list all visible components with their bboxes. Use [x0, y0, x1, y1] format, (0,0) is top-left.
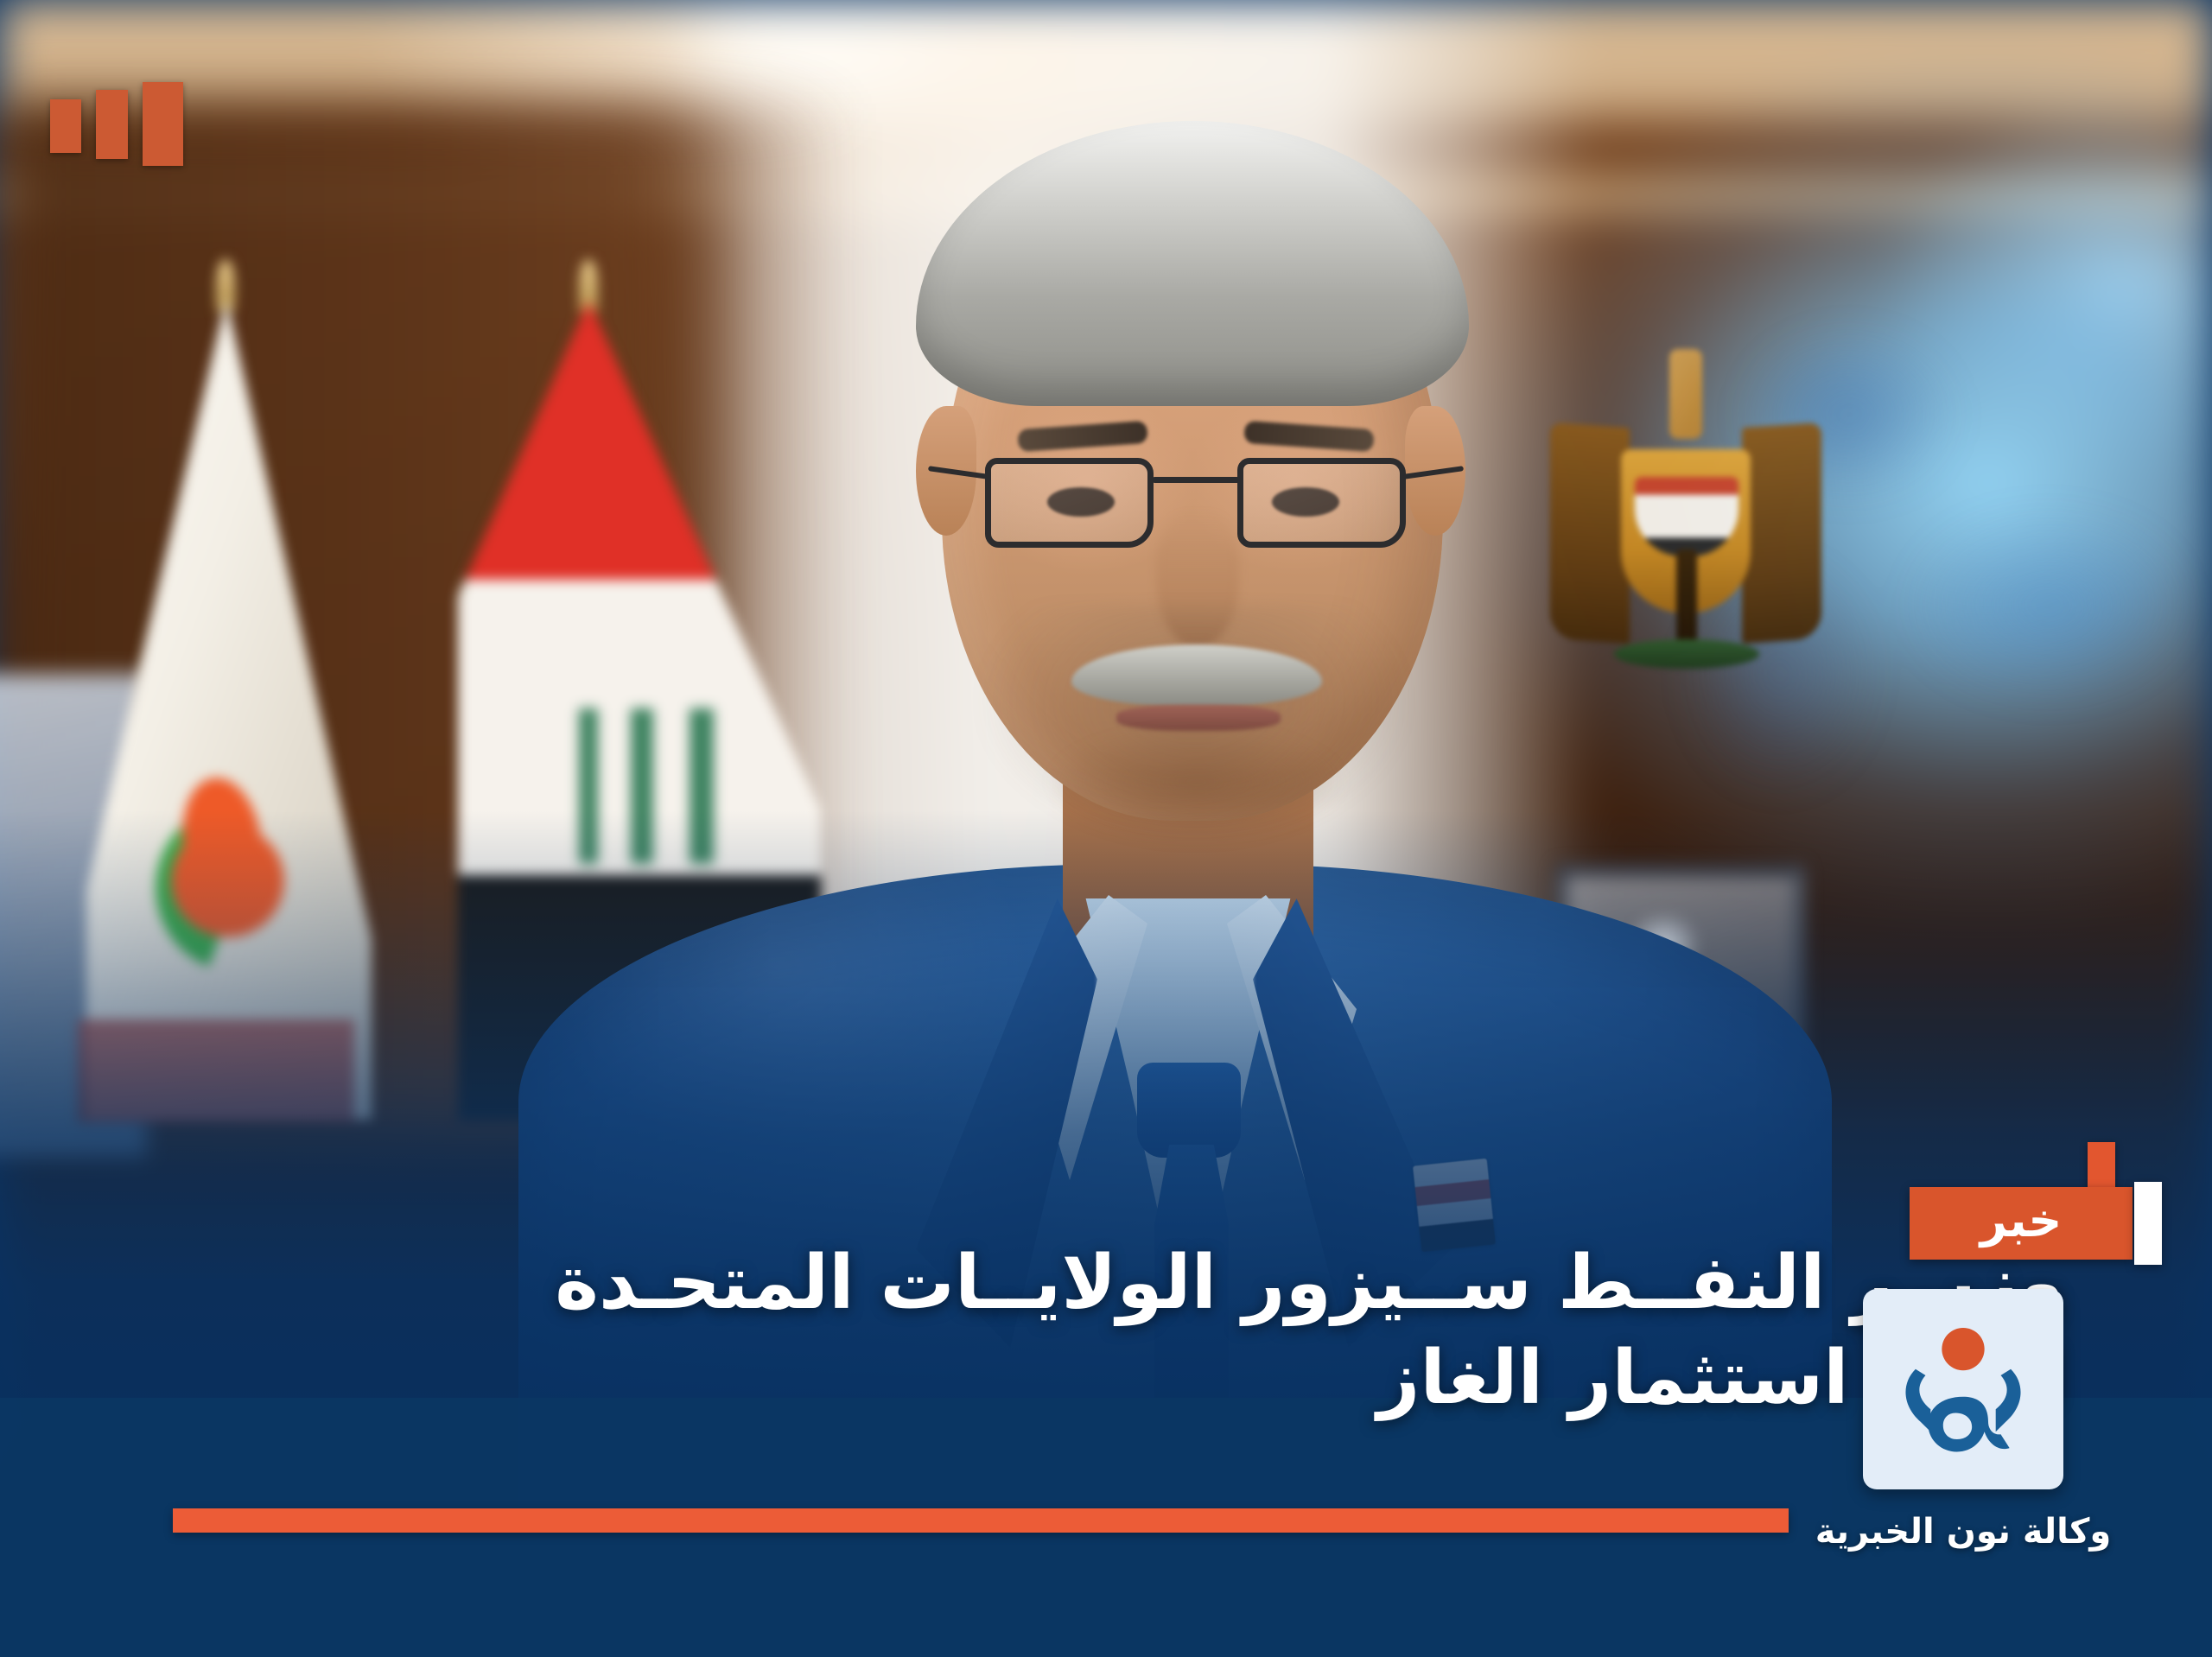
- corner-bar-3: [50, 99, 81, 153]
- headline-line-2: لبحث استثمار الغاز: [164, 1330, 2065, 1425]
- agency-logo-card: [1863, 1289, 2063, 1489]
- news-badge-label: خبر: [1980, 1197, 2063, 1249]
- news-badge: خبر: [1910, 1187, 2133, 1260]
- glasses-lens-right: [1237, 458, 1406, 548]
- corner-bars-mark: [50, 82, 183, 166]
- glasses-bridge: [1152, 477, 1240, 483]
- news-card: وزيــر النفــط ســيزور الولايــات المتحـ…: [0, 0, 2212, 1657]
- grey-hair: [916, 121, 1469, 406]
- headline: وزيــر النفــط ســيزور الولايــات المتحـ…: [164, 1235, 2065, 1425]
- noon-agency-logo-icon: [1888, 1314, 2038, 1464]
- glasses-lens-left: [985, 458, 1154, 548]
- headline-underline-rule: [173, 1508, 1789, 1533]
- brand-block: خبر وكالة نون الخبرية: [1794, 1187, 2133, 1552]
- emblem-wing-right: [1742, 422, 1821, 644]
- corner-bar-1: [143, 82, 183, 166]
- headline-line-1: وزيــر النفــط ســيزور الولايــات المتحـ…: [164, 1235, 2065, 1330]
- agency-name: وكالة نون الخبرية: [1794, 1512, 2133, 1552]
- corner-bar-2: [96, 90, 128, 159]
